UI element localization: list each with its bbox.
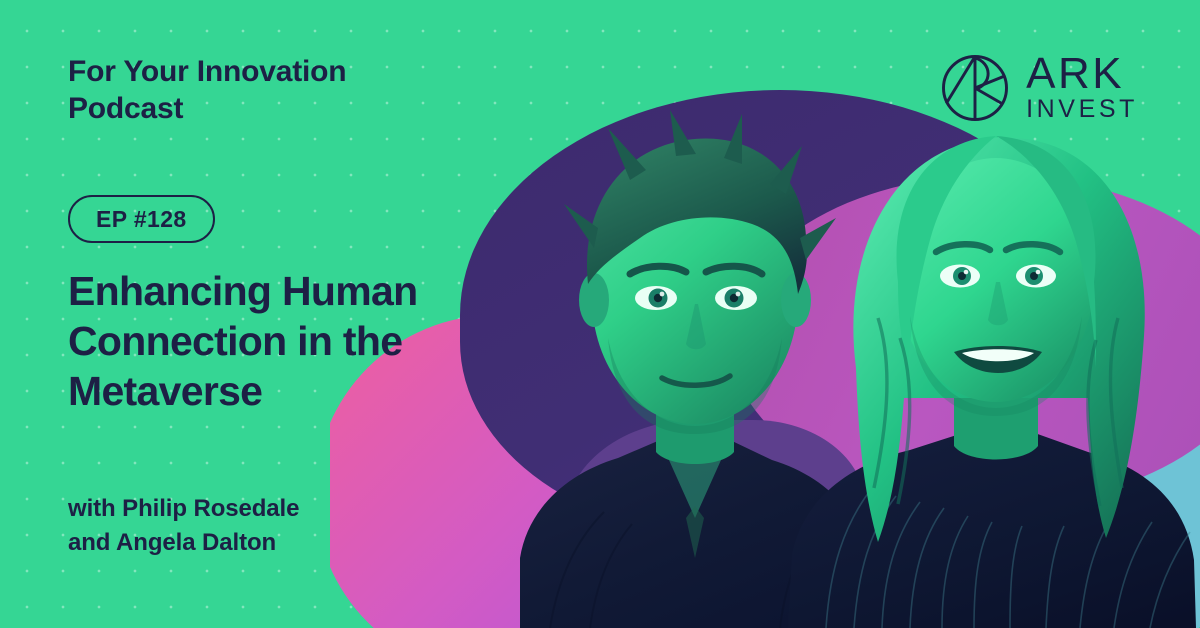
ark-circle-monogram-icon — [940, 53, 1010, 123]
text-column: For Your Innovation Podcast EP #128 Enha… — [68, 0, 538, 628]
guest-credit-line2: and Angela Dalton — [68, 526, 468, 560]
show-title-line1: For Your Innovation — [68, 55, 346, 88]
episode-number-badge[interactable]: EP #128 — [68, 195, 215, 243]
logo-word-ark: ARK — [1026, 52, 1138, 95]
portrait-angela-dalton — [770, 68, 1200, 628]
ark-invest-logo[interactable]: ARK INVEST — [940, 52, 1138, 125]
episode-title-line1: Enhancing Human — [68, 266, 528, 316]
logo-word-invest: INVEST — [1026, 95, 1138, 125]
guest-credits: with Philip Rosedale and Angela Dalton — [68, 492, 468, 560]
show-title-line2: Podcast — [68, 92, 183, 125]
podcast-cover: For Your Innovation Podcast EP #128 Enha… — [0, 0, 1200, 628]
episode-title-line2: Connection in the — [68, 316, 528, 366]
episode-title-line3: Metaverse — [68, 366, 528, 416]
guest-credit-line1: with Philip Rosedale — [68, 492, 468, 526]
show-title: For Your Innovation Podcast — [68, 54, 468, 127]
episode-title: Enhancing Human Connection in the Metave… — [68, 266, 528, 416]
ark-invest-wordmark: ARK INVEST — [1026, 52, 1138, 125]
